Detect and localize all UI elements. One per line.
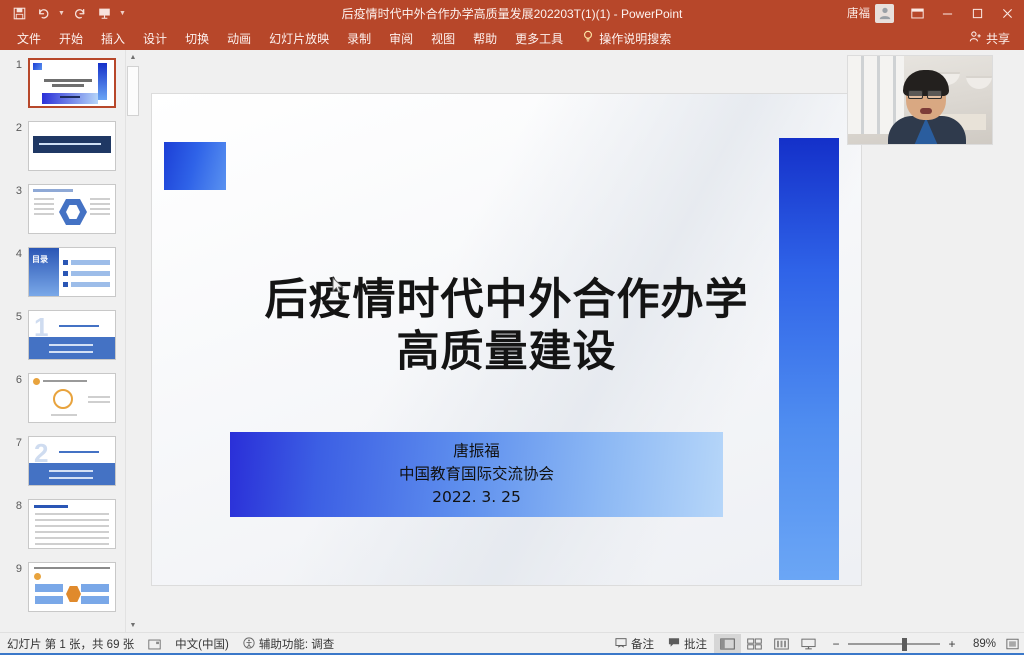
subtitle-line-2: 中国教育国际交流协会 — [399, 463, 554, 486]
undo-icon[interactable] — [32, 3, 54, 23]
mouse-cursor — [332, 277, 344, 295]
slide-thumbnail-8[interactable] — [28, 499, 116, 549]
reading-view-button[interactable] — [768, 634, 795, 655]
notes-label: 备注 — [631, 636, 654, 652]
comments-button[interactable]: 批注 — [661, 634, 714, 655]
slide-title[interactable]: 后疫情时代中外合作办学 高质量建设 — [152, 274, 861, 379]
menu-tab-list: 文件开始插入设计切换动画幻灯片放映录制审阅视图帮助更多工具 — [8, 26, 572, 50]
account-name: 唐福 — [847, 5, 870, 21]
slide-thumbnail-3[interactable] — [28, 184, 116, 234]
menu-tab-4[interactable]: 切换 — [176, 26, 218, 50]
zoom-slider-handle[interactable] — [902, 638, 907, 651]
slide-sorter-view-button[interactable] — [741, 634, 768, 655]
thumbnail-number: 4 — [0, 247, 28, 297]
slide-thumbnail-4[interactable]: 目录 — [28, 247, 116, 297]
menu-tab-6[interactable]: 幻灯片放映 — [260, 26, 338, 50]
thumbnail-number: 1 — [0, 58, 28, 108]
thumbnail-art: 1 — [29, 311, 115, 359]
thumbnail-number: 7 — [0, 436, 28, 486]
thumbnail-row-7[interactable]: 72 — [0, 436, 125, 486]
zoom-control[interactable]: − + — [822, 637, 966, 651]
scroll-up-icon[interactable]: ▲ — [126, 50, 140, 64]
menu-tab-7[interactable]: 录制 — [338, 26, 380, 50]
menu-tab-3[interactable]: 设计 — [134, 26, 176, 50]
slide-thumbnail-9[interactable] — [28, 562, 116, 612]
workspace: 1234目录5167289 ▲ ▼ 后疫情时代中外合作办学 高质量建设 唐振福 … — [0, 50, 1024, 632]
redo-icon[interactable] — [69, 3, 91, 23]
normal-view-button[interactable] — [714, 634, 741, 655]
minimize-button[interactable] — [932, 0, 962, 26]
current-slide[interactable]: 后疫情时代中外合作办学 高质量建设 唐振福 中国教育国际交流协会 2022. 3… — [152, 94, 861, 585]
thumbnail-number: 3 — [0, 184, 28, 234]
thumbnail-row-9[interactable]: 9 — [0, 562, 125, 612]
slide-thumbnail-panel[interactable]: 1234目录5167289 — [0, 50, 125, 632]
slide-title-line-2: 高质量建设 — [152, 326, 861, 378]
slide-thumbnail-7[interactable]: 2 — [28, 436, 116, 486]
menu-tab-11[interactable]: 更多工具 — [506, 26, 572, 50]
slide-thumbnail-5[interactable]: 1 — [28, 310, 116, 360]
thumbnail-art — [29, 374, 115, 422]
thumbnail-row-2[interactable]: 2 — [0, 121, 125, 171]
thumbnail-row-5[interactable]: 51 — [0, 310, 125, 360]
language-label: 中文(中国) — [175, 636, 229, 652]
thumbnail-row-6[interactable]: 6 — [0, 373, 125, 423]
menu-tab-0[interactable]: 文件 — [8, 26, 50, 50]
webcam-glasses-left — [908, 90, 923, 99]
webcam-person-mouth — [920, 108, 932, 114]
thumbnail-row-8[interactable]: 8 — [0, 499, 125, 549]
zoom-out-button[interactable]: − — [830, 637, 842, 651]
tell-me-search[interactable]: 操作说明搜索 — [572, 30, 671, 47]
zoom-level-label[interactable]: 89% — [966, 638, 1000, 650]
thumbnail-number: 5 — [0, 310, 28, 360]
accessibility-checker[interactable]: 辅助功能: 调查 — [236, 634, 341, 655]
notes-icon — [615, 637, 627, 651]
avatar[interactable] — [875, 4, 894, 23]
thumbnail-row-4[interactable]: 4目录 — [0, 247, 125, 297]
comments-label: 批注 — [684, 636, 707, 652]
ribbon-display-options-icon[interactable] — [902, 0, 932, 26]
thumbnail-art — [29, 500, 115, 548]
thumbnail-panel-scrollbar[interactable]: ▲ ▼ — [125, 50, 139, 632]
thumbnail-art — [30, 60, 114, 106]
lightbulb-icon — [582, 30, 594, 46]
tell-me-label: 操作说明搜索 — [599, 30, 671, 47]
thumbnail-number: 8 — [0, 499, 28, 549]
menu-bar: 文件开始插入设计切换动画幻灯片放映录制审阅视图帮助更多工具 操作说明搜索 共享 — [0, 26, 1024, 50]
zoom-slider[interactable] — [848, 638, 940, 650]
thumbnail-number: 2 — [0, 121, 28, 171]
start-slideshow-icon[interactable] — [93, 3, 115, 23]
save-icon[interactable] — [8, 3, 30, 23]
thumbnail-art — [29, 563, 115, 611]
status-bar: 幻灯片 第 1 张，共 69 张 中文(中国) 辅助功能: 调查 — [0, 632, 1024, 655]
thumbnail-row-1[interactable]: 1 — [0, 58, 125, 108]
slide-counter[interactable]: 幻灯片 第 1 张，共 69 张 — [0, 634, 141, 655]
accessibility-label: 辅助功能: 调查 — [259, 636, 334, 652]
undo-dropdown-icon[interactable]: ▼ — [56, 3, 67, 23]
thumbnail-art — [29, 122, 115, 170]
slide-thumbnail-1[interactable] — [28, 58, 116, 108]
customize-qat-icon[interactable]: ▼ — [117, 3, 128, 23]
thumbnail-row-3[interactable]: 3 — [0, 184, 125, 234]
quick-access-toolbar: ▼ ▼ — [0, 3, 128, 23]
webcam-glasses-right — [927, 90, 942, 99]
menu-tab-1[interactable]: 开始 — [50, 26, 92, 50]
title-bar: ▼ ▼ 后疫情时代中外合作办学高质量发展202203T(1)(1) - Powe… — [0, 0, 1024, 26]
slide-counter-label: 幻灯片 第 1 张，共 69 张 — [7, 636, 134, 652]
menu-tab-9[interactable]: 视图 — [422, 26, 464, 50]
thumbnail-number: 6 — [0, 373, 28, 423]
thumbnail-art: 目录 — [29, 248, 115, 296]
notes-button[interactable]: 备注 — [608, 634, 661, 655]
scroll-down-icon[interactable]: ▼ — [126, 618, 140, 632]
zoom-slider-track — [848, 643, 940, 645]
webcam-video-overlay[interactable] — [847, 55, 993, 145]
thumbnail-number: 9 — [0, 562, 28, 612]
title-bar-right: 唐福 — [847, 0, 1024, 26]
menu-tab-2[interactable]: 插入 — [92, 26, 134, 50]
maximize-button[interactable] — [962, 0, 992, 26]
thumbnail-art — [29, 185, 115, 233]
share-button[interactable]: 共享 — [963, 27, 1016, 49]
scrollbar-thumb[interactable] — [127, 66, 139, 116]
share-label: 共享 — [986, 30, 1010, 47]
subtitle-line-3: 2022. 3. 25 — [432, 486, 521, 509]
status-bar-right: 备注 批注 — [608, 634, 1024, 655]
slide-show-button[interactable] — [795, 634, 822, 655]
slide-thumbnail-2[interactable] — [28, 121, 116, 171]
share-person-icon — [969, 30, 982, 46]
decor-top-left-block — [164, 142, 226, 190]
subtitle-line-1: 唐振福 — [453, 440, 500, 463]
accessibility-icon — [243, 637, 255, 652]
slide-thumbnail-6[interactable] — [28, 373, 116, 423]
fit-slide-to-window-button[interactable] — [1000, 634, 1024, 655]
slide-editing-area[interactable]: 后疫情时代中外合作办学 高质量建设 唐振福 中国教育国际交流协会 2022. 3… — [140, 50, 1024, 632]
language-indicator[interactable]: 中文(中国) — [168, 634, 236, 655]
thumbnail-art: 2 — [29, 437, 115, 485]
comment-bubble-icon — [668, 637, 680, 651]
slide-subtitle-box[interactable]: 唐振福 中国教育国际交流协会 2022. 3. 25 — [230, 432, 723, 517]
slide-layout-icon[interactable] — [141, 634, 168, 655]
close-button[interactable] — [992, 0, 1022, 26]
menu-tab-10[interactable]: 帮助 — [464, 26, 506, 50]
menu-tab-8[interactable]: 审阅 — [380, 26, 422, 50]
zoom-in-button[interactable]: + — [946, 637, 958, 651]
menu-tab-5[interactable]: 动画 — [218, 26, 260, 50]
